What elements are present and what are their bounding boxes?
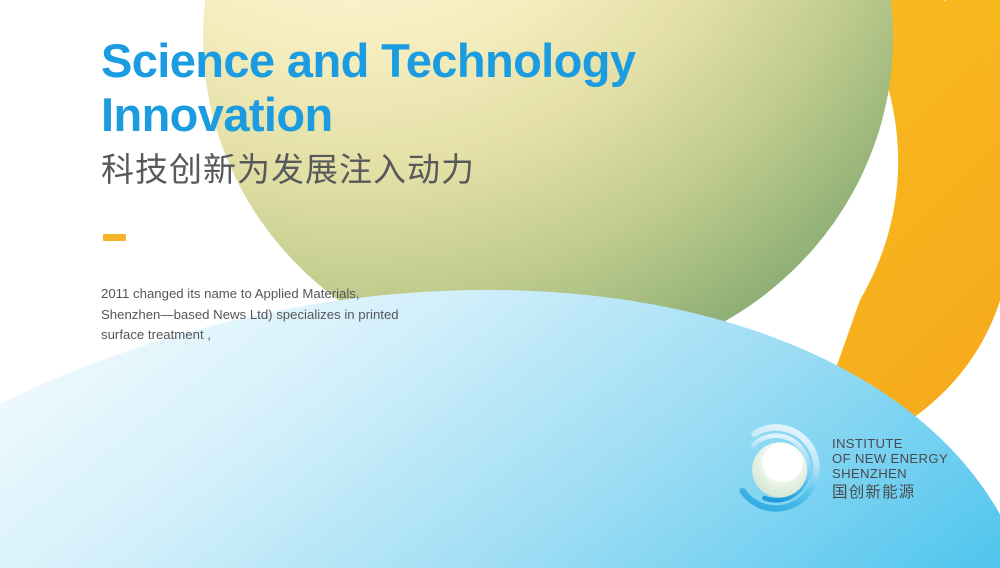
page-subtitle-chinese: 科技创新为发展注入动力 — [101, 150, 475, 190]
logo-highlight-core — [771, 447, 799, 471]
institute-sphere-logo-icon — [730, 422, 822, 514]
presentation-slide: Science and Technology Innovation 科技创新为发… — [0, 0, 1000, 568]
logo-line-chinese: 国创新能源 — [832, 484, 948, 502]
logo-line-institute: INSTITUTE — [832, 436, 948, 451]
logo-lockup: INSTITUTE OF NEW ENERGY SHENZHEN 国创新能源 — [730, 418, 955, 518]
logo-line-of-new-energy: OF NEW ENERGY — [832, 451, 948, 466]
logo-line-shenzhen: SHENZHEN — [832, 466, 948, 481]
logo-wordmark: INSTITUTE OF NEW ENERGY SHENZHEN 国创新能源 — [832, 434, 948, 503]
page-title-english: Science and Technology Innovation — [101, 34, 721, 142]
body-paragraph: 2011 changed its name to Applied Materia… — [101, 284, 446, 346]
orange-dash-accent-icon — [103, 234, 126, 241]
slide-content: Science and Technology Innovation 科技创新为发… — [0, 0, 1000, 568]
